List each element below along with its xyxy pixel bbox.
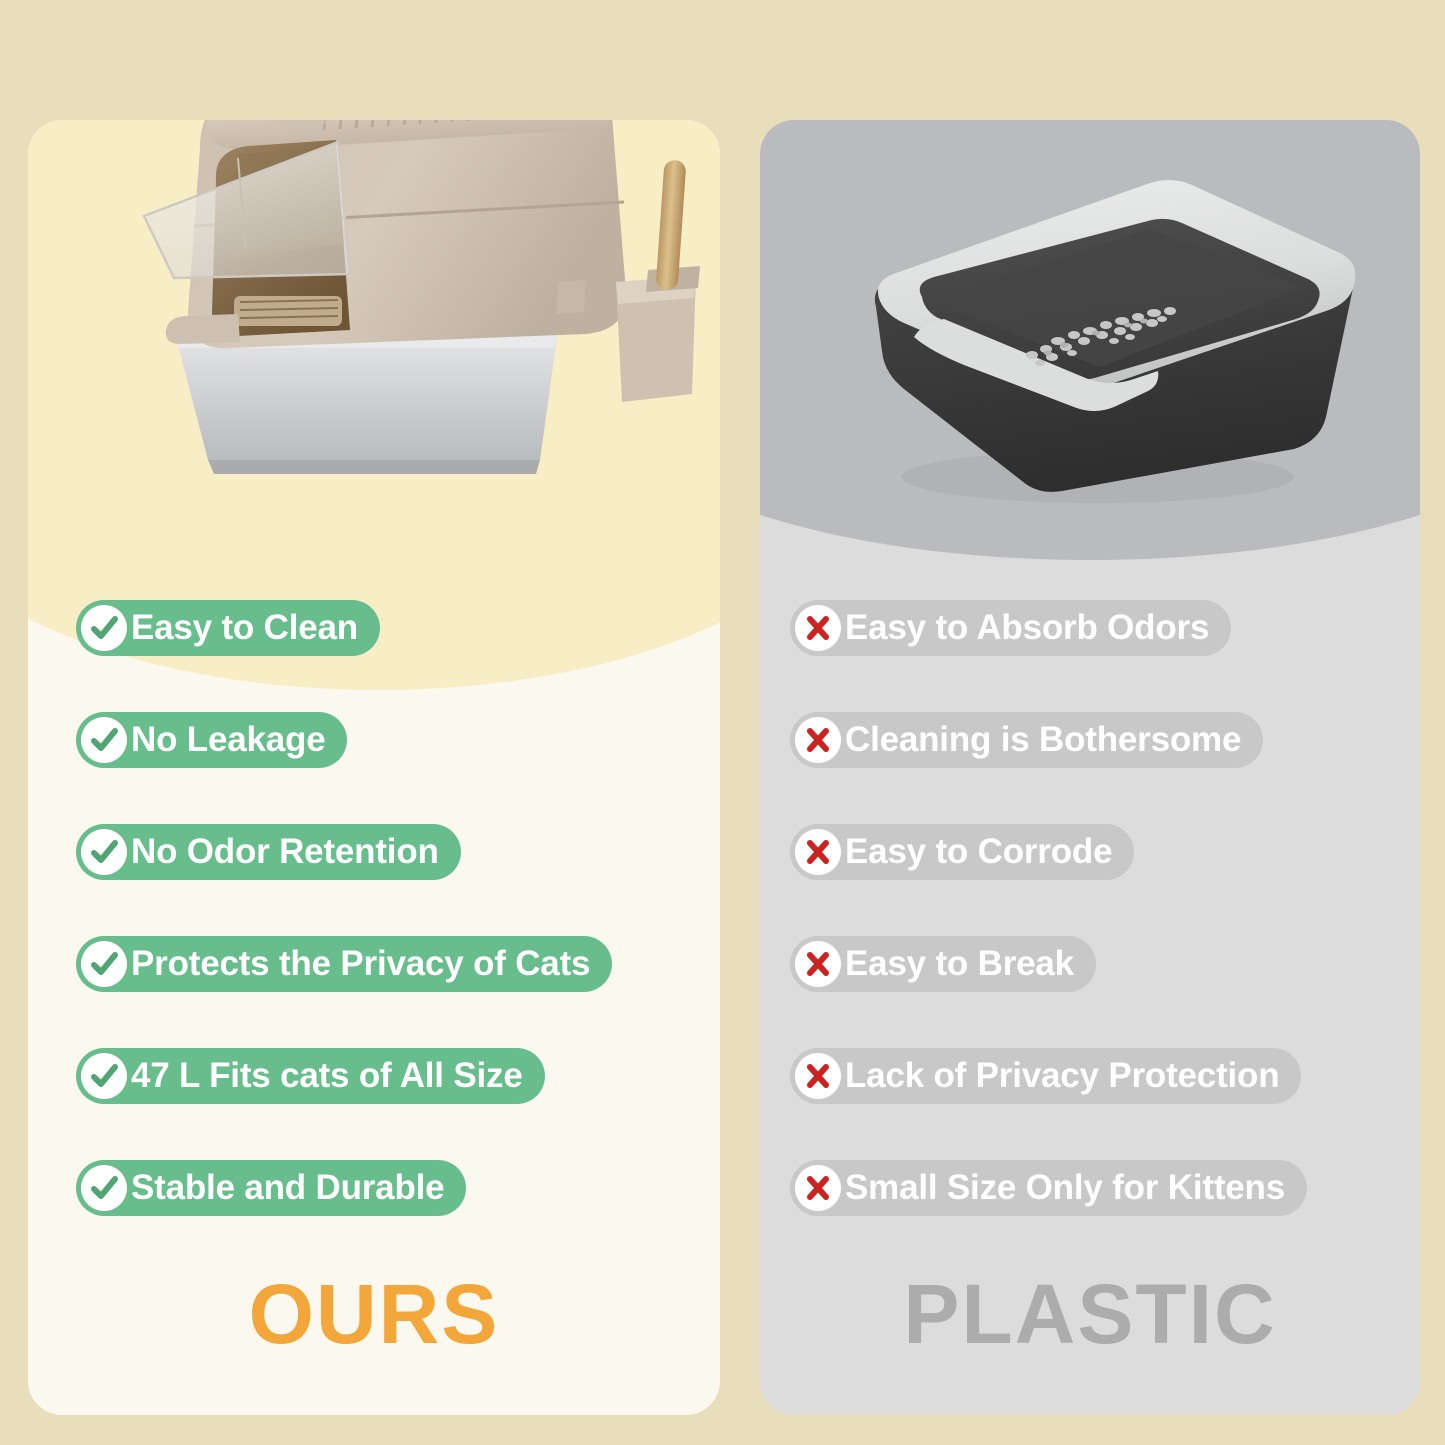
plastic-panel: Easy to Absorb Odors Cleaning is Bothers… — [760, 120, 1420, 1415]
plastic-drawback-row: Small Size Only for Kittens — [760, 1132, 1420, 1244]
plastic-drawback-label: Easy to Absorb Odors — [845, 610, 1209, 647]
ours-product-photo — [88, 120, 720, 550]
cross-icon — [795, 717, 841, 763]
check-icon — [81, 829, 127, 875]
ours-feature-row: No Odor Retention — [28, 796, 720, 908]
plastic-drawback-label: Cleaning is Bothersome — [845, 722, 1241, 759]
ours-feature-pill[interactable]: Protects the Privacy of Cats — [76, 936, 612, 992]
ours-feature-label: Stable and Durable — [131, 1170, 444, 1207]
plastic-drawback-row: Easy to Break — [760, 908, 1420, 1020]
ours-feature-row: Easy to Clean — [28, 572, 720, 684]
plastic-drawback-pill[interactable]: Lack of Privacy Protection — [790, 1048, 1301, 1104]
cross-icon — [795, 605, 841, 651]
ours-feature-label: Easy to Clean — [131, 610, 358, 647]
ours-feature-row: 47 L Fits cats of All Size — [28, 1020, 720, 1132]
ours-panel: Easy to Clean No Leakage — [28, 120, 720, 1415]
check-icon — [81, 717, 127, 763]
ours-feature-label: No Odor Retention — [131, 834, 439, 871]
plastic-drawback-pill[interactable]: Easy to Break — [790, 936, 1096, 992]
ours-feature-row: Protects the Privacy of Cats — [28, 908, 720, 1020]
comparison-infographic: Easy to Clean No Leakage — [0, 0, 1445, 1445]
plastic-drawback-row: Cleaning is Bothersome — [760, 684, 1420, 796]
ours-feature-label: 47 L Fits cats of All Size — [131, 1058, 523, 1095]
ours-feature-pill[interactable]: Stable and Durable — [76, 1160, 466, 1216]
ours-feature-list: Easy to Clean No Leakage — [28, 572, 720, 1244]
check-icon — [81, 1165, 127, 1211]
plastic-drawback-pill[interactable]: Easy to Absorb Odors — [790, 600, 1231, 656]
plastic-title: PLASTIC — [760, 1272, 1420, 1356]
plastic-product-photo — [818, 155, 1378, 515]
plastic-drawback-row: Easy to Corrode — [760, 796, 1420, 908]
plastic-drawback-pill[interactable]: Easy to Corrode — [790, 824, 1134, 880]
check-icon — [81, 941, 127, 987]
cross-icon — [795, 829, 841, 875]
plastic-drawback-row: Lack of Privacy Protection — [760, 1020, 1420, 1132]
plastic-drawback-label: Lack of Privacy Protection — [845, 1058, 1279, 1095]
ours-feature-pill[interactable]: No Odor Retention — [76, 824, 461, 880]
check-icon — [81, 1053, 127, 1099]
check-icon — [81, 605, 127, 651]
cross-icon — [795, 1053, 841, 1099]
ours-feature-label: Protects the Privacy of Cats — [131, 946, 590, 983]
plastic-drawback-list: Easy to Absorb Odors Cleaning is Bothers… — [760, 572, 1420, 1244]
ours-feature-label: No Leakage — [131, 722, 325, 759]
plastic-drawback-row: Easy to Absorb Odors — [760, 572, 1420, 684]
cross-icon — [795, 941, 841, 987]
ours-feature-row: No Leakage — [28, 684, 720, 796]
plastic-drawback-pill[interactable]: Cleaning is Bothersome — [790, 712, 1263, 768]
plastic-drawback-label: Easy to Corrode — [845, 834, 1112, 871]
cross-icon — [795, 1165, 841, 1211]
ours-feature-pill[interactable]: No Leakage — [76, 712, 347, 768]
plastic-drawback-label: Easy to Break — [845, 946, 1074, 983]
ours-title: OURS — [28, 1272, 720, 1356]
plastic-drawback-label: Small Size Only for Kittens — [845, 1170, 1285, 1207]
plastic-drawback-pill[interactable]: Small Size Only for Kittens — [790, 1160, 1307, 1216]
ours-feature-pill[interactable]: Easy to Clean — [76, 600, 380, 656]
ours-feature-row: Stable and Durable — [28, 1132, 720, 1244]
ours-feature-pill[interactable]: 47 L Fits cats of All Size — [76, 1048, 545, 1104]
